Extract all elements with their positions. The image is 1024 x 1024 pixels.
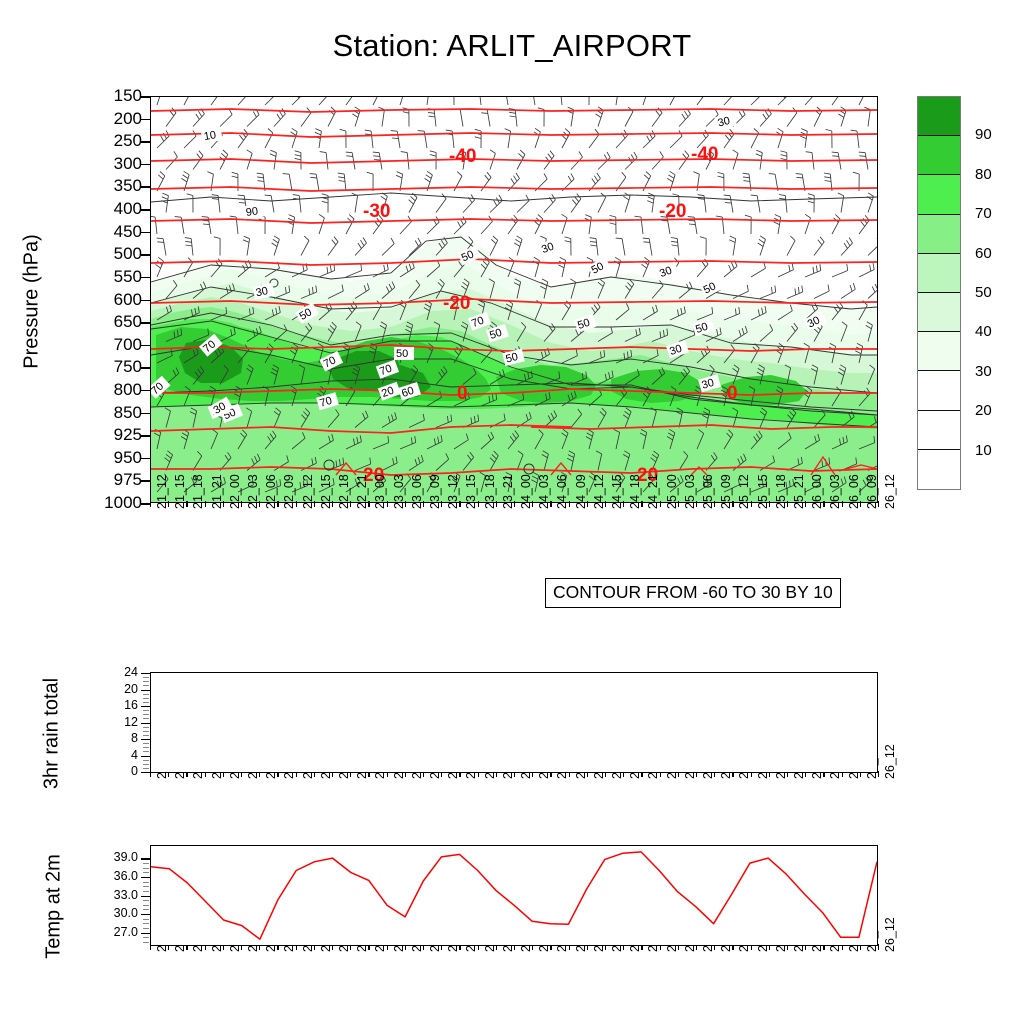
svg-text:-40: -40 <box>691 144 718 165</box>
main-x-label-26_12: 26_12 <box>883 474 897 509</box>
svg-text:20: 20 <box>363 465 384 486</box>
temp-ytick-minor <box>143 872 149 873</box>
rain-ytick-minor <box>143 698 149 699</box>
rain-ytick-minor <box>143 710 149 711</box>
rain-ytick-8 <box>141 739 150 740</box>
pressure-tick-800 <box>141 390 150 392</box>
svg-text:0: 0 <box>727 383 738 404</box>
temp-ytick-30.0 <box>141 914 150 915</box>
pressure-label-400: 400 <box>96 200 142 217</box>
rain-ytick-16 <box>141 706 150 707</box>
colorbar-label-90: 90 <box>975 126 992 143</box>
temp-ytick-27.0 <box>141 933 150 934</box>
temp-ytick-minor <box>143 900 149 901</box>
pressure-tick-950 <box>141 458 150 460</box>
colorbar-band-6 <box>918 332 960 371</box>
temp-ytick-minor <box>143 923 149 924</box>
rain-ytick-minor <box>143 751 149 752</box>
pressure-tick-150 <box>141 96 150 98</box>
colorbar-label-20: 20 <box>975 402 992 419</box>
rain-ytick-minor <box>143 681 149 682</box>
rain-ytick-minor <box>143 768 149 769</box>
pressure-axis-label: Pressure (hPa) <box>21 152 44 452</box>
temp-ytick-minor <box>143 937 149 938</box>
contour-note-box: CONTOUR FROM -60 TO 30 BY 10 <box>545 578 841 608</box>
rain-ytick-minor <box>143 743 149 744</box>
temp-ylabel-30.0: 30.0 <box>88 907 138 920</box>
pressure-tick-550 <box>141 277 150 279</box>
rain-ytick-minor <box>143 735 149 736</box>
rain-ytick-minor <box>143 727 149 728</box>
rain-ylabel-20: 20 <box>96 683 138 696</box>
rain-x-label-26_12: 26_12 <box>883 744 897 779</box>
pressure-label-950: 950 <box>96 449 142 466</box>
pressure-label-975: 975 <box>96 471 142 488</box>
rain-ytick-4 <box>141 756 150 757</box>
pressure-tick-350 <box>141 186 150 188</box>
pressure-tick-750 <box>141 367 150 369</box>
rain-total-panel[interactable] <box>150 672 878 773</box>
relative-humidity-colorbar[interactable] <box>917 96 961 490</box>
rain-ytick-12 <box>141 723 150 724</box>
pressure-label-250: 250 <box>96 132 142 149</box>
colorbar-label-80: 80 <box>975 166 992 183</box>
colorbar-band-2 <box>918 175 960 214</box>
pressure-tick-250 <box>141 141 150 143</box>
colorbar-band-4 <box>918 254 960 293</box>
pressure-label-750: 750 <box>96 358 142 375</box>
temp-ytick-minor <box>143 909 149 910</box>
pressure-label-800: 800 <box>96 381 142 398</box>
pressure-tick-650 <box>141 322 150 324</box>
page-title: Station: ARLIT_AIRPORT <box>0 28 1024 64</box>
colorbar-band-8 <box>918 411 960 450</box>
temp-axis-label: Temp at 2m <box>43 817 66 997</box>
pressure-label-650: 650 <box>96 313 142 330</box>
pressure-label-600: 600 <box>96 291 142 308</box>
temp-series <box>151 852 877 939</box>
colorbar-band-1 <box>918 136 960 175</box>
rain-ytick-minor <box>143 718 149 719</box>
temp-ylabel-39.0: 39.0 <box>88 851 138 864</box>
pressure-tick-1000 <box>141 503 150 505</box>
temp-ytick-33.0 <box>141 896 150 897</box>
svg-text:-40: -40 <box>449 146 476 167</box>
temp-2m-panel[interactable] <box>150 845 878 946</box>
svg-text:0: 0 <box>457 383 468 404</box>
pressure-tick-300 <box>141 164 150 166</box>
pressure-label-550: 550 <box>96 268 142 285</box>
colorbar-label-30: 30 <box>975 363 992 380</box>
svg-text:-30: -30 <box>363 201 390 222</box>
temp-ytick-minor <box>143 886 149 887</box>
pressure-tick-200 <box>141 119 150 121</box>
colorbar-band-0 <box>918 97 960 136</box>
temp-ytick-minor <box>143 905 149 906</box>
svg-text:50: 50 <box>396 348 408 360</box>
colorbar-band-7 <box>918 371 960 410</box>
rain-ytick-minor <box>143 677 149 678</box>
svg-text:30: 30 <box>255 285 269 299</box>
temp-x-label-26_12: 26_12 <box>883 917 897 952</box>
colorbar-band-9 <box>918 450 960 489</box>
pressure-tick-500 <box>141 254 150 256</box>
temp-ylabel-36.0: 36.0 <box>88 870 138 883</box>
pressure-label-925: 925 <box>96 426 142 443</box>
rain-ytick-0 <box>141 772 150 773</box>
pressure-label-850: 850 <box>96 404 142 421</box>
temp-ylabel-27.0: 27.0 <box>88 926 138 939</box>
rain-ylabel-24: 24 <box>96 666 138 679</box>
pressure-label-700: 700 <box>96 336 142 353</box>
temp-ytick-minor <box>143 868 149 869</box>
temp-ytick-minor <box>143 882 149 883</box>
rain-ylabel-4: 4 <box>96 749 138 762</box>
temp-ytick-minor <box>143 863 149 864</box>
rain-ytick-minor <box>143 714 149 715</box>
pressure-label-500: 500 <box>96 245 142 262</box>
temp-ytick-36.0 <box>141 877 150 878</box>
colorbar-label-10: 10 <box>975 442 992 459</box>
pressure-label-300: 300 <box>96 155 142 172</box>
temp-ytick-39.0 <box>141 858 150 859</box>
svg-text:90: 90 <box>245 205 259 219</box>
temp-ytick-minor <box>143 919 149 920</box>
main-x-tick-26_12 <box>878 501 879 507</box>
svg-text:-20: -20 <box>659 201 686 222</box>
rain-ytick-minor <box>143 685 149 686</box>
temp-ytick-minor <box>143 928 149 929</box>
colorbar-label-50: 50 <box>975 284 992 301</box>
rain-ytick-minor <box>143 747 149 748</box>
rain-ylabel-8: 8 <box>96 732 138 745</box>
pressure-tick-850 <box>141 413 150 415</box>
temp-x-tick-26_12 <box>878 944 879 950</box>
rain-ytick-20 <box>141 690 150 691</box>
colorbar-label-40: 40 <box>975 323 992 340</box>
colorbar-band-3 <box>918 215 960 254</box>
rain-ylabel-12: 12 <box>96 716 138 729</box>
pressure-label-150: 150 <box>96 87 142 104</box>
colorbar-band-5 <box>918 293 960 332</box>
rain-ytick-minor <box>143 764 149 765</box>
pressure-tick-700 <box>141 345 150 347</box>
colorbar-label-70: 70 <box>975 205 992 222</box>
pressure-tick-600 <box>141 300 150 302</box>
temp-ytick-minor <box>143 891 149 892</box>
pressure-label-1000: 1000 <box>96 494 142 511</box>
colorbar-label-60: 60 <box>975 245 992 262</box>
rain-ytick-minor <box>143 694 149 695</box>
pressure-tick-925 <box>141 435 150 437</box>
rain-ytick-minor <box>143 760 149 761</box>
temp-ytick-minor <box>143 942 149 943</box>
pressure-tick-975 <box>141 480 150 482</box>
pressure-label-200: 200 <box>96 110 142 127</box>
rain-ylabel-0: 0 <box>96 765 138 778</box>
rain-x-tick-26_12 <box>878 771 879 777</box>
pressure-label-350: 350 <box>96 177 142 194</box>
rain-axis-label: 3hr rain total <box>41 644 64 824</box>
rain-ylabel-16: 16 <box>96 699 138 712</box>
pressure-label-450: 450 <box>96 223 142 240</box>
svg-text:20: 20 <box>637 465 658 486</box>
rain-ytick-minor <box>143 702 149 703</box>
svg-text:10: 10 <box>203 129 217 143</box>
temp-ylabel-33.0: 33.0 <box>88 889 138 902</box>
rain-ytick-minor <box>143 731 149 732</box>
pressure-tick-400 <box>141 209 150 211</box>
time-height-cross-section[interactable]: 10 30 50 70 70 90 70 70 70 50 50 70 50 3… <box>150 96 878 503</box>
pressure-tick-450 <box>141 232 150 234</box>
rain-ytick-24 <box>141 673 150 674</box>
